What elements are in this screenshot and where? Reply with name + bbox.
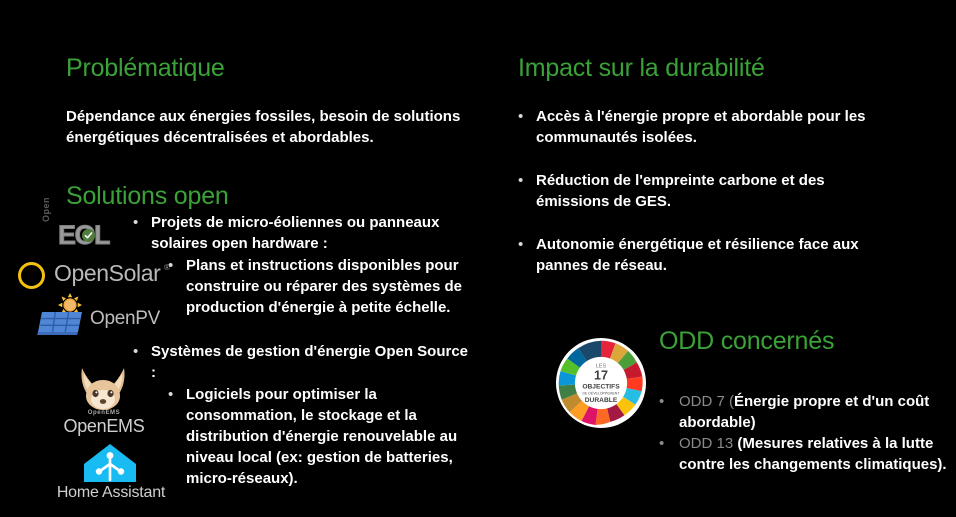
opensolar-wordmark: OpenSolar: [54, 260, 160, 287]
list-item-label: Logiciels pour optimiser la consommation…: [186, 384, 478, 489]
opensolar-logo: OpenSolar ®: [18, 260, 178, 294]
home-assistant-logo: Home Assistant: [46, 442, 176, 504]
list-item-label: Projets de micro-éoliennes ou panneaux s…: [151, 212, 473, 254]
heading-solutions-open: Solutions open: [66, 182, 229, 211]
svg-text:OBJECTIFS: OBJECTIFS: [582, 383, 620, 390]
check-icon: [82, 229, 95, 242]
heading-problematique: Problématique: [66, 54, 225, 83]
list-item: • Projets de micro-éoliennes ou panneaux…: [133, 212, 473, 254]
odd-item-13: ODD 13 (Mesures relatives à la lutte con…: [679, 433, 949, 475]
bullet-marker: •: [518, 234, 536, 255]
bullet-marker: •: [659, 391, 679, 412]
list-item: • Logiciels pour optimiser la consommati…: [168, 384, 478, 489]
sdg-wheel-logo: LES 17 OBJECTIFS DE DÉVELOPPEMENT DURABL…: [556, 338, 646, 428]
svg-text:DE DÉVELOPPEMENT: DE DÉVELOPPEMENT: [583, 390, 621, 395]
list-item-label: Plans et instructions disponibles pour c…: [186, 255, 478, 318]
odd-item-7-label: ODD 7 (: [679, 393, 734, 410]
odd-item-13-label: ODD 13: [679, 435, 737, 452]
registered-mark-icon: ®: [164, 263, 170, 272]
heading-impact-durabilite: Impact sur la durabilité: [518, 54, 765, 83]
paragraph-problematique: Dépendance aux énergies fossiles, besoin…: [66, 106, 496, 148]
openems-logo: OpenEMS OpenEMS: [56, 366, 152, 438]
slide-canvas: Problématique Dépendance aux énergies fo…: [0, 0, 956, 517]
list-item: • Autonomie énergétique et résilience fa…: [518, 234, 898, 276]
fennec-fox-icon: [72, 366, 134, 412]
list-item: • Accès à l'énergie propre et abordable …: [518, 106, 898, 148]
odd-item-7: ODD 7 (Énergie propre et d'un coût abord…: [679, 391, 949, 433]
openems-wordmark: OpenEMS: [56, 416, 152, 437]
list-item: • ODD 7 (Énergie propre et d'un coût abo…: [659, 391, 949, 433]
bullet-marker: •: [133, 212, 151, 233]
list-item: • Réduction de l'empreinte carbone et de…: [518, 170, 898, 212]
bullet-marker: •: [518, 170, 536, 191]
svg-text:DURABLE: DURABLE: [585, 397, 618, 404]
list-item: • Systèmes de gestion d'énergie Open Sou…: [133, 341, 473, 383]
list-item: • Plans et instructions disponibles pour…: [168, 255, 478, 318]
home-assistant-house-icon: [82, 442, 138, 484]
home-assistant-wordmark: Home Assistant: [46, 484, 176, 502]
bullet-marker: •: [133, 341, 151, 362]
list-item-label: Accès à l'énergie propre et abordable po…: [536, 106, 898, 148]
list-item-label: Systèmes de gestion d'énergie Open Sourc…: [151, 341, 473, 383]
list-item-label: Réduction de l'empreinte carbone et des …: [536, 170, 898, 212]
circle-icon: [18, 262, 45, 289]
list-item: • ODD 13 (Mesures relatives à la lutte c…: [659, 433, 949, 475]
heading-odd-concernes: ODD concernés: [659, 327, 834, 356]
bullet-marker: •: [518, 106, 536, 127]
bullet-marker: •: [168, 384, 186, 405]
solar-panel-icon: [36, 310, 84, 338]
openpv-wordmark: OpenPV: [90, 308, 160, 330]
bullet-marker: •: [659, 433, 679, 454]
openpv-logo: OpenPV: [32, 292, 167, 342]
svg-text:17: 17: [594, 368, 608, 382]
openeol-open-word: Open: [41, 197, 51, 222]
openeol-logo: Open EOL: [38, 218, 130, 254]
list-item-label: Autonomie énergétique et résilience face…: [536, 234, 898, 276]
